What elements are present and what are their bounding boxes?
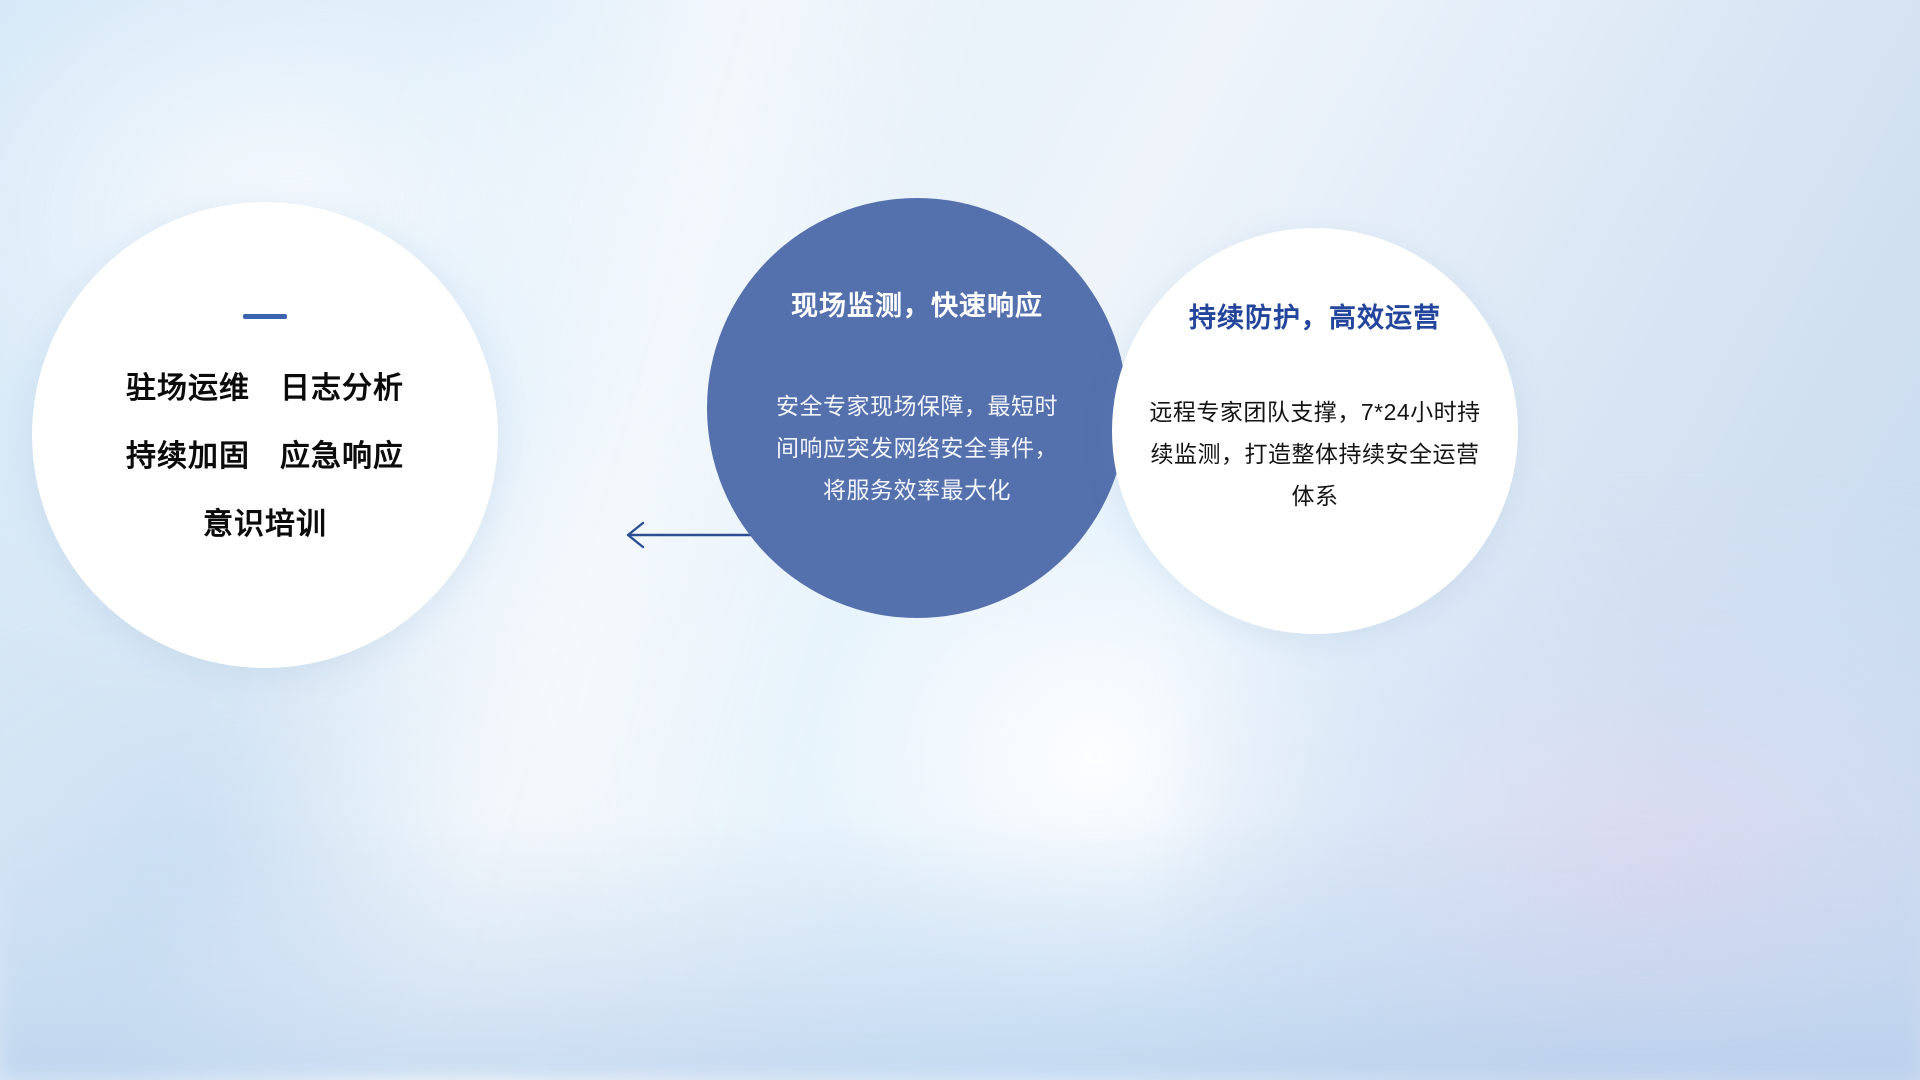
spacer xyxy=(250,431,280,475)
capability-row: 持续加固 应急响应 xyxy=(126,431,404,475)
spacer xyxy=(250,363,280,407)
capability-list: 驻场运维 日志分析 持续加固 应急响应 意识培训 xyxy=(126,363,404,543)
card-body: 安全专家现场保障，最短时间响应突发网络安全事件，将服务效率最大化 xyxy=(767,385,1067,511)
accent-divider xyxy=(243,314,287,319)
card-onsite-monitoring: 现场监测，快速响应 安全专家现场保障，最短时间响应突发网络安全事件，将服务效率最… xyxy=(707,198,1127,618)
card-continuous-operations: 持续防护，高效运营 远程专家团队支撑，7*24小时持续监测，打造整体持续安全运营… xyxy=(1112,228,1518,634)
background-bottom-band xyxy=(0,821,1920,1080)
capability-row: 意识培训 xyxy=(203,499,327,543)
capability-item: 持续加固 xyxy=(126,431,250,475)
card-title: 持续防护，高效运营 xyxy=(1189,296,1441,335)
capability-item: 意识培训 xyxy=(203,499,327,543)
capability-item: 日志分析 xyxy=(280,363,404,407)
slide-canvas: 驻场运维 日志分析 持续加固 应急响应 意识培训 现场监测，快速响应 安全专家现… xyxy=(0,0,1920,1080)
card-onsite-capabilities: 驻场运维 日志分析 持续加固 应急响应 意识培训 xyxy=(32,202,498,668)
card-title: 现场监测，快速响应 xyxy=(791,284,1043,323)
capability-row: 驻场运维 日志分析 xyxy=(126,363,404,407)
capability-item: 驻场运维 xyxy=(126,363,250,407)
card-body: 远程专家团队支撑，7*24小时持续监测，打造整体持续安全运营体系 xyxy=(1148,391,1482,517)
capability-item: 应急响应 xyxy=(280,431,404,475)
